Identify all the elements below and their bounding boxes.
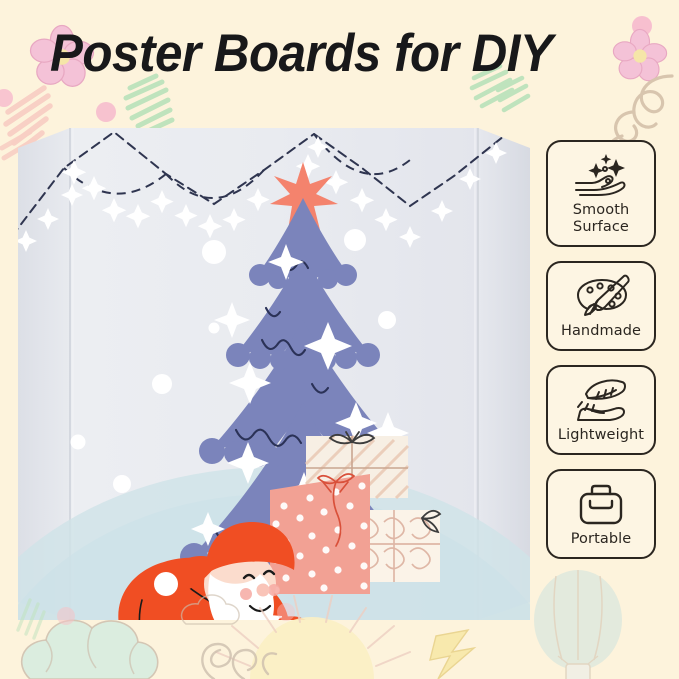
feature-badge-label: Handmade [561,323,641,340]
feature-badge-label: SmoothSurface [573,202,630,236]
poster-board [18,112,530,620]
lightning-bolt-doodle [430,630,474,679]
spiral-doodle-bottom [202,644,276,679]
feature-badge-smooth-surface[interactable]: SmoothSurface [546,140,656,247]
paint-palette-icon [572,273,630,319]
feature-badge-lightweight[interactable]: Lightweight [546,365,656,455]
hand-sparkle-icon [572,152,630,198]
product-marketing-image: Poster Boards for DIY [0,0,679,679]
feature-badge-portable[interactable]: Portable [546,469,656,559]
cloud-doodle-left [22,620,158,679]
page-title: Poster Boards for DIY [50,18,552,90]
feature-badge-label: Lightweight [558,427,644,444]
gift-polka-dot [270,474,370,594]
feature-badge-list: SmoothSurface [537,140,665,559]
feature-badge-handmade[interactable]: Handmade [546,261,656,351]
balloon-doodle [534,570,622,679]
cloud-outline-left [46,628,138,674]
briefcase-icon [572,481,630,527]
title-container: Poster Boards for DIY [0,18,679,100]
feature-badge-label: Portable [571,531,632,548]
feather-hand-icon [572,377,630,423]
